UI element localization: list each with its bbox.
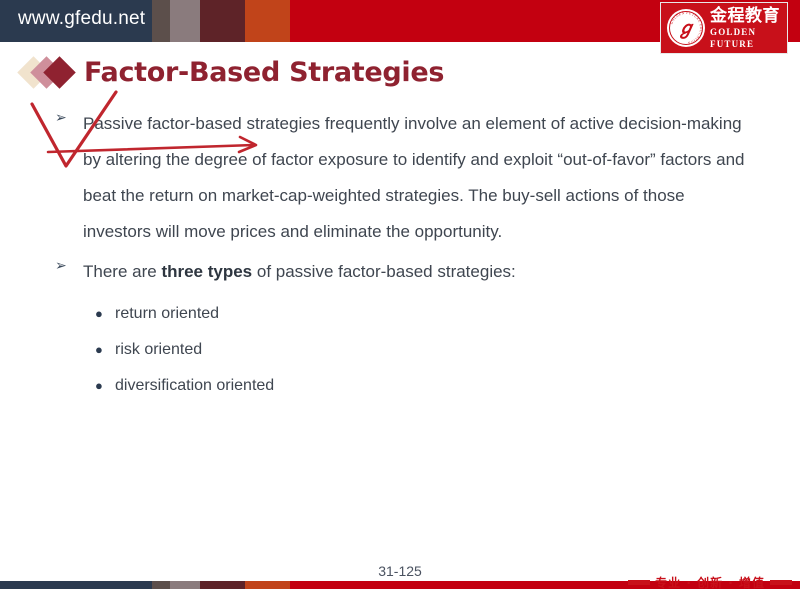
sub-bullet-list: ● return oriented ● risk oriented ● dive…	[55, 296, 755, 404]
arrow-bullet-icon: ➢	[55, 110, 69, 124]
header-segment-mauve	[170, 0, 200, 42]
slogan-dash-right-icon	[770, 580, 792, 585]
logo-wordmark: 金程教育 GOLDEN FUTURE	[710, 7, 787, 50]
footer-slogan: 专业 · 创新 · 增值	[628, 574, 792, 591]
footer-segment-brown	[152, 581, 170, 589]
bullet-item-1: ➢ Passive factor-based strategies freque…	[55, 106, 755, 250]
list-item-label: diversification oriented	[115, 377, 274, 394]
logo-monogram: ℊ	[667, 9, 705, 47]
header-segment-maroon	[200, 0, 245, 42]
logo-chinese-name: 金程教育	[710, 7, 787, 26]
footer-segment-navy	[0, 581, 152, 589]
slogan-text: 专业 · 创新 · 增值	[655, 574, 765, 591]
slide-title-row: Factor-Based Strategies	[22, 50, 444, 94]
list-item-label: risk oriented	[115, 341, 202, 358]
arrow-bullet-icon: ➢	[55, 258, 69, 272]
slide: www.gfedu.net GOLDEN FUTURE EDUCATION ℊ …	[0, 0, 800, 600]
brand-logo[interactable]: GOLDEN FUTURE EDUCATION ℊ 金程教育 GOLDEN FU…	[660, 2, 788, 54]
header-segment-brown	[152, 0, 170, 42]
logo-english-name: GOLDEN FUTURE	[710, 26, 787, 50]
footer-segment-mauve	[170, 581, 200, 589]
bullet-text-2: There are three types of passive factor-…	[83, 254, 755, 290]
bullet-item-2: ➢ There are three types of passive facto…	[55, 254, 755, 290]
dot-bullet-icon: ●	[95, 332, 103, 368]
footer-segment-maroon	[200, 581, 245, 589]
header-segment-orange	[245, 0, 290, 42]
footer-segment-orange	[245, 581, 290, 589]
page-title: Factor-Based Strategies	[84, 57, 444, 88]
slide-content: ➢ Passive factor-based strategies freque…	[55, 106, 755, 404]
diamond-decoration-icon	[22, 55, 84, 89]
dot-bullet-icon: ●	[95, 296, 103, 332]
list-item: ● risk oriented	[55, 332, 755, 368]
slogan-dash-left-icon	[628, 580, 650, 585]
site-url-link[interactable]: www.gfedu.net	[18, 8, 145, 30]
logo-seal-icon: GOLDEN FUTURE EDUCATION ℊ	[667, 9, 705, 47]
bullet-text-1: Passive factor-based strategies frequent…	[83, 106, 755, 250]
list-item-label: return oriented	[115, 305, 219, 322]
list-item: ● diversification oriented	[55, 368, 755, 404]
dot-bullet-icon: ●	[95, 368, 103, 404]
list-item: ● return oriented	[55, 296, 755, 332]
